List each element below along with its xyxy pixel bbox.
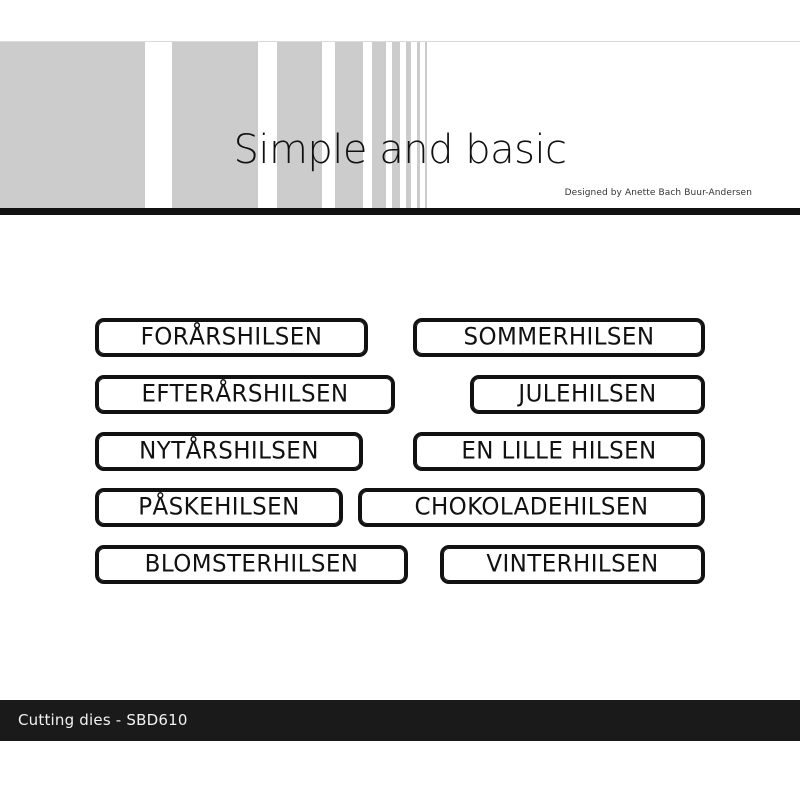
- die-label-efterårshilsen: EFTERÅRSHILSEN: [95, 375, 395, 414]
- die-label-forårshilsen: FORÅRSHILSEN: [95, 318, 368, 357]
- product-code-label: Cutting dies - SBD610: [18, 711, 188, 729]
- footer-bar: Cutting dies - SBD610: [0, 700, 800, 741]
- die-label-text: PÅSKEHILSEN: [138, 496, 299, 520]
- die-label-inner-outline: NYTÅRSHILSEN: [98, 435, 360, 468]
- die-label-grid: FORÅRSHILSENSOMMERHILSENEFTERÅRSHILSENJU…: [0, 0, 800, 800]
- die-label-inner-outline: VINTERHILSEN: [443, 548, 702, 581]
- die-label-blomsterhilsen: BLOMSTERHILSEN: [95, 545, 408, 584]
- die-label-chokoladehilsen: CHOKOLADEHILSEN: [358, 488, 705, 527]
- die-label-inner-outline: EN LILLE HILSEN: [416, 435, 702, 468]
- die-label-text: BLOMSTERHILSEN: [145, 553, 359, 577]
- die-label-julehilsen: JULEHILSEN: [470, 375, 705, 414]
- die-label-vinterhilsen: VINTERHILSEN: [440, 545, 705, 584]
- die-label-inner-outline: JULEHILSEN: [473, 378, 702, 411]
- die-label-text: EFTERÅRSHILSEN: [141, 383, 348, 407]
- die-label-en-lille-hilsen: EN LILLE HILSEN: [413, 432, 705, 471]
- die-label-påskehilsen: PÅSKEHILSEN: [95, 488, 343, 527]
- die-label-text: FORÅRSHILSEN: [141, 326, 323, 350]
- die-label-inner-outline: PÅSKEHILSEN: [98, 491, 340, 524]
- product-sheet: Simple and basic Designed by Anette Bach…: [0, 0, 800, 800]
- die-label-text: VINTERHILSEN: [486, 553, 658, 577]
- die-label-inner-outline: FORÅRSHILSEN: [98, 321, 365, 354]
- die-label-inner-outline: SOMMERHILSEN: [416, 321, 702, 354]
- die-label-text: CHOKOLADEHILSEN: [415, 496, 649, 520]
- die-label-text: NYTÅRSHILSEN: [139, 440, 319, 464]
- die-label-sommerhilsen: SOMMERHILSEN: [413, 318, 705, 357]
- die-label-text: SOMMERHILSEN: [464, 326, 655, 350]
- die-label-inner-outline: EFTERÅRSHILSEN: [98, 378, 392, 411]
- die-label-inner-outline: CHOKOLADEHILSEN: [361, 491, 702, 524]
- die-label-inner-outline: BLOMSTERHILSEN: [98, 548, 405, 581]
- die-label-nytårshilsen: NYTÅRSHILSEN: [95, 432, 363, 471]
- die-label-text: EN LILLE HILSEN: [461, 440, 656, 464]
- die-label-text: JULEHILSEN: [518, 383, 656, 407]
